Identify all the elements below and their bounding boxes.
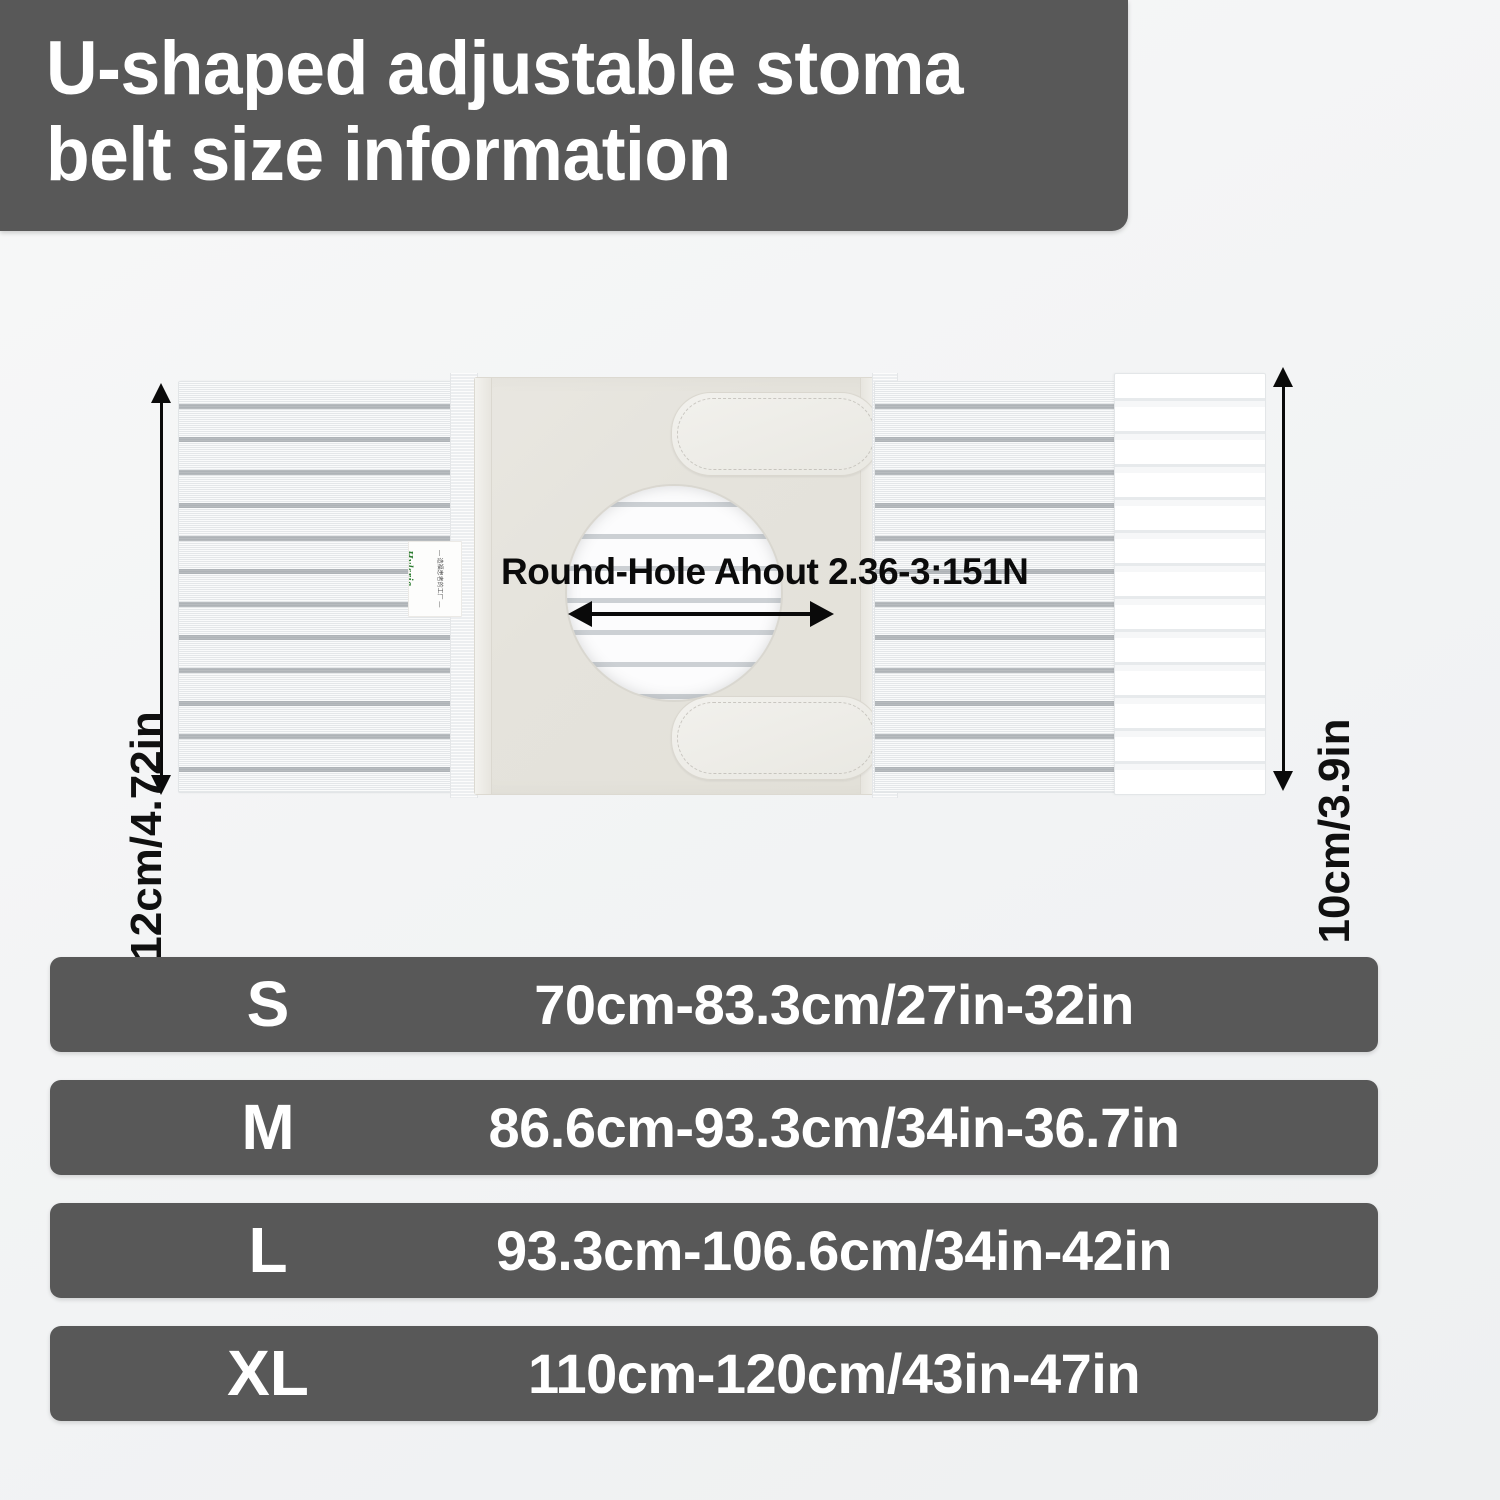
size-range-value: 86.6cm-93.3cm/34in-36.7in <box>370 1080 1298 1175</box>
table-row: M 86.6cm-93.3cm/34in-36.7in <box>50 1080 1378 1175</box>
right-dimension-arrow <box>1268 367 1298 791</box>
arrow-shaft <box>1282 381 1285 777</box>
center-panel-left-edge <box>475 378 492 794</box>
size-label: XL <box>168 1326 368 1421</box>
size-range-value: 70cm-83.3cm/27in-32in <box>370 957 1298 1052</box>
right-dimension-label: 10cm/3.9in <box>1310 681 1360 981</box>
size-label: S <box>168 957 368 1052</box>
table-row: S 70cm-83.3cm/27in-32in <box>50 957 1378 1052</box>
arrow-shaft <box>586 612 816 616</box>
arrow-head-right-icon <box>810 601 834 627</box>
hole-size-caption: Round-Hole Ahout 2.36-3:151N <box>501 551 1028 593</box>
velcro-tab-top[interactable] <box>671 392 881 476</box>
table-row: XL 110cm-120cm/43in-47in <box>50 1326 1378 1421</box>
size-table: S 70cm-83.3cm/27in-32in M 86.6cm-93.3cm/… <box>50 957 1378 1449</box>
size-label: L <box>168 1203 368 1298</box>
page-title-line-2: belt size information <box>46 112 1063 198</box>
size-label: M <box>168 1080 368 1175</box>
table-row: L 93.3cm-106.6cm/34in-42in <box>50 1203 1378 1298</box>
arrow-head-down-icon <box>1273 771 1293 791</box>
size-range-value: 110cm-120cm/43in-47in <box>370 1326 1298 1421</box>
brand-sub-text: — 造福患者的工厂 — <box>436 550 445 607</box>
hole-width-arrow <box>568 601 834 627</box>
left-dimension-label: 12cm/4.72in <box>122 671 172 1001</box>
page-title-line-1: U-shaped adjustable stoma <box>46 26 1063 112</box>
brand-label-tag: Hylsrie — 造福患者的工厂 — <box>408 541 462 617</box>
title-banner: U-shaped adjustable stoma belt size info… <box>0 0 1128 231</box>
product-image-stage: 12cm/4.72in 10cm/3.9in Hylsrie — 造福患者的工厂… <box>0 231 1500 921</box>
velcro-tab-bottom[interactable] <box>671 696 881 780</box>
brand-logo-text: Hylsrie <box>408 550 415 587</box>
size-range-value: 93.3cm-106.6cm/34in-42in <box>370 1203 1298 1298</box>
belt-far-right-panel <box>1114 373 1266 795</box>
stoma-round-hole <box>567 486 781 700</box>
